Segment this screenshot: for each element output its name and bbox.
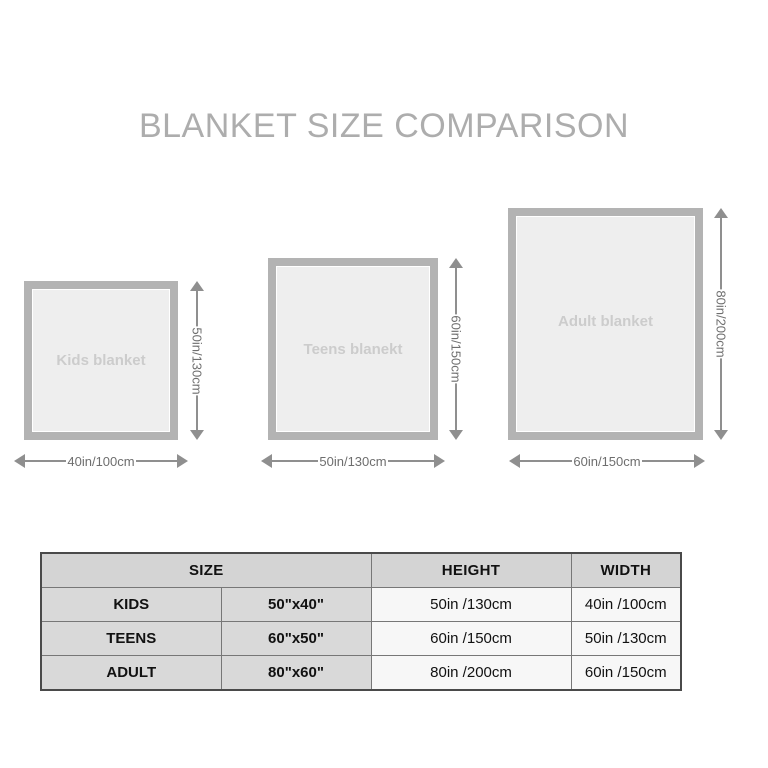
arrow-head-right-icon [694,454,705,468]
dimension-line [136,460,177,462]
arrow-head-left-icon [14,454,25,468]
arrow-head-down-icon [190,430,204,440]
cell-size-name: TEENS [41,622,221,656]
dimension-line [642,460,694,462]
blanket-label-kids: Kids blanket [24,352,178,369]
cell-size-name: KIDS [41,588,221,622]
blanket-label-adult: Adult blanket [508,313,703,330]
dimension-height-kids: 50in/130cm [185,281,209,440]
table-row: ADULT 80"x60" 80in /200cm 60in /150cm [41,656,681,691]
table-row: TEENS 60"x50" 60in /150cm 50in /130cm [41,622,681,656]
arrow-head-right-icon [177,454,188,468]
dimension-line [25,460,66,462]
column-header-height: HEIGHT [371,553,571,588]
dimension-width-teens: 50in/130cm [261,450,445,472]
dimension-line [520,460,572,462]
cell-size-dims: 80"x60" [221,656,371,691]
dimension-height-teens: 60in/150cm [444,258,468,440]
blanket-group-adult: Adult blanket [508,208,703,440]
table-header-row: SIZE HEIGHT WIDTH [41,553,681,588]
dimension-width-adult: 60in/150cm [509,450,705,472]
arrow-head-left-icon [509,454,520,468]
cell-width: 40in /100cm [571,588,681,622]
arrow-head-down-icon [449,430,463,440]
dimension-width-label-kids: 40in/100cm [66,454,135,469]
column-header-width: WIDTH [571,553,681,588]
cell-height: 50in /130cm [371,588,571,622]
blanket-label-teens: Teens blanekt [268,341,438,358]
dimension-line [388,460,434,462]
dimension-width-label-teens: 50in/130cm [318,454,387,469]
blanket-comparison-diagram: Kids blanket 50in/130cm 40in/100cm Teens… [0,0,768,520]
cell-width: 60in /150cm [571,656,681,691]
cell-height: 80in /200cm [371,656,571,691]
cell-size-name: ADULT [41,656,221,691]
dimension-width-kids: 40in/100cm [14,450,188,472]
dimension-height-label-teens: 60in/150cm [447,314,466,383]
cell-size-dims: 60"x50" [221,622,371,656]
cell-width: 50in /130cm [571,622,681,656]
arrow-head-right-icon [434,454,445,468]
blanket-group-kids: Kids blanket [24,281,178,440]
dimension-height-label-kids: 50in/130cm [188,326,207,395]
dimension-height-label-adult: 80in/200cm [712,289,731,358]
table-row: KIDS 50"x40" 50in /130cm 40in /100cm [41,588,681,622]
arrow-head-down-icon [714,430,728,440]
blanket-group-teens: Teens blanekt [268,258,438,440]
cell-size-dims: 50"x40" [221,588,371,622]
dimension-height-adult: 80in/200cm [709,208,733,440]
cell-height: 60in /150cm [371,622,571,656]
column-header-size: SIZE [41,553,371,588]
arrow-head-left-icon [261,454,272,468]
dimension-line [272,460,318,462]
dimension-width-label-adult: 60in/150cm [572,454,641,469]
size-chart-table: SIZE HEIGHT WIDTH KIDS 50"x40" 50in /130… [40,552,682,691]
